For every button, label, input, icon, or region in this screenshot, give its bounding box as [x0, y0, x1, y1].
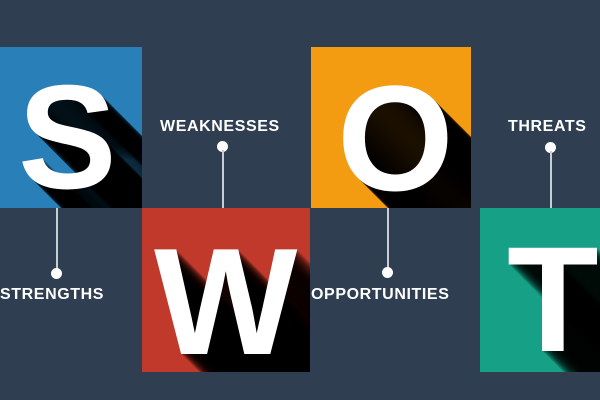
- connector-line-threats: [550, 151, 552, 208]
- letter-o: O: [337, 63, 454, 208]
- connector-line-weaknesses: [222, 150, 224, 208]
- swot-tile-strengths[interactable]: S S: [0, 47, 142, 208]
- callout-label-strengths: STRENGTHS: [0, 287, 104, 303]
- swot-tile-weaknesses[interactable]: W W: [142, 208, 310, 372]
- letter-w: W: [154, 226, 297, 372]
- callout-label-weaknesses: WEAKNESSES: [160, 119, 280, 135]
- callout-label-opportunities: OPPORTUNITIES: [311, 287, 449, 303]
- connector-line-strengths: [56, 208, 58, 274]
- connector-dot-opportunities: [382, 267, 393, 278]
- swot-tile-opportunities[interactable]: O O: [311, 47, 471, 208]
- swot-tile-threats[interactable]: T T: [480, 208, 600, 372]
- callout-label-threats: THREATS: [508, 119, 587, 135]
- connector-dot-strengths: [51, 268, 62, 279]
- letter-s: S: [18, 64, 117, 208]
- letter-t: T: [507, 224, 599, 372]
- connector-line-opportunities: [387, 208, 389, 272]
- swot-diagram: S S W W O O T T STRENGTHS WEAKNESSES OPP…: [0, 0, 600, 400]
